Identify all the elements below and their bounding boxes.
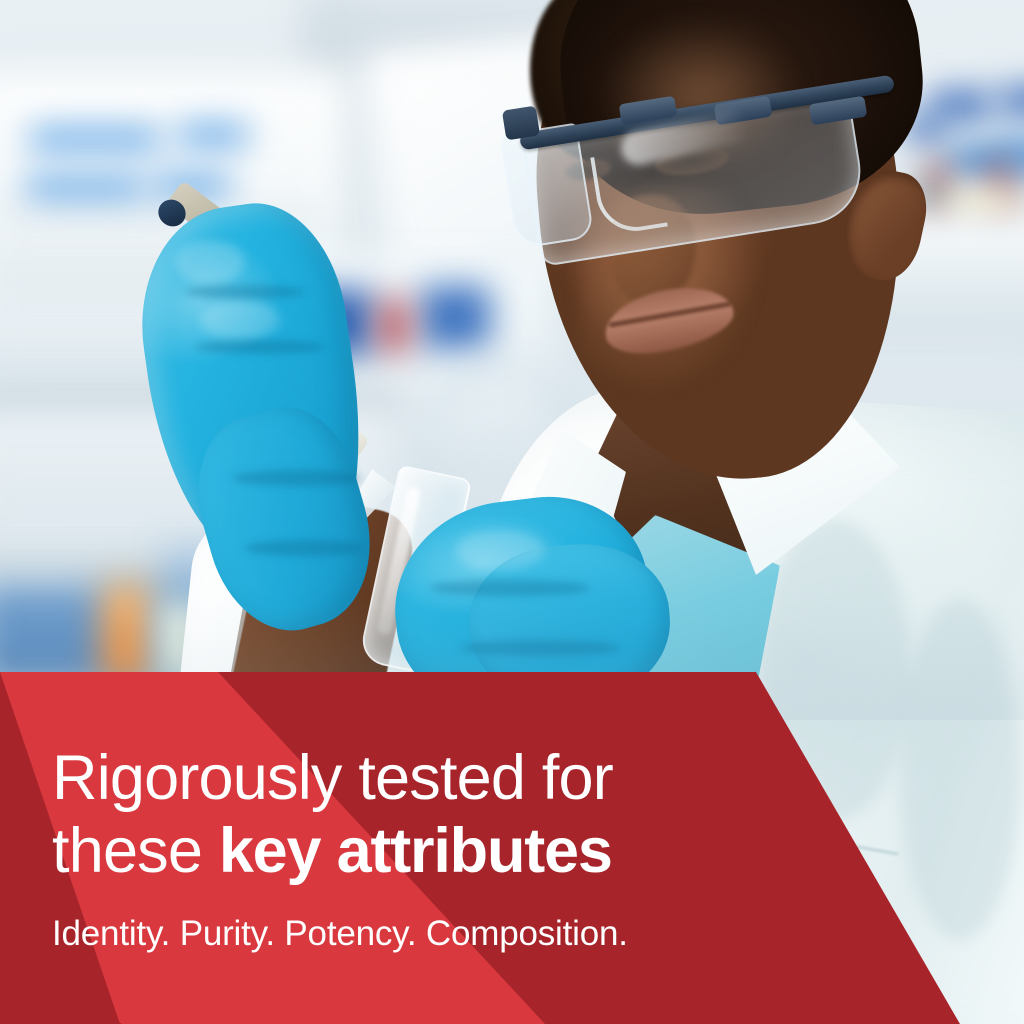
- glove-crease: [244, 540, 364, 556]
- banner-text-block: Rigorously tested for these key attribut…: [52, 742, 812, 954]
- lab-coat-fold: [900, 600, 1020, 940]
- background-label-blue: [26, 180, 144, 198]
- background-bottle-cap: [930, 92, 992, 118]
- glove-knuckle-highlight: [175, 240, 245, 284]
- glove-crease: [460, 640, 620, 656]
- subline-attributes: Identity. Purity. Potency. Composition.: [52, 914, 812, 954]
- glove-crease: [185, 285, 305, 299]
- headline-light-part: these: [52, 816, 219, 886]
- glove-knuckle-highlight: [200, 300, 280, 340]
- glove-crease: [232, 470, 362, 486]
- goggles-hinge: [502, 106, 540, 141]
- background-bottle-orange: [100, 580, 152, 685]
- background-label-blue: [30, 130, 160, 148]
- safety-goggles: [500, 60, 920, 280]
- background-label-blue: [178, 126, 248, 144]
- background-bottle-cap: [1000, 88, 1024, 114]
- glove-crease: [195, 340, 325, 354]
- promotional-poster: Rigorously tested for these key attribut…: [0, 0, 1024, 1024]
- glove-knuckle-highlight: [455, 530, 545, 570]
- headline-line-2: these key attributes: [52, 815, 812, 888]
- headline-line-1: Rigorously tested for: [52, 742, 812, 815]
- headline-bold-part: key attributes: [219, 816, 612, 886]
- background-reagent-blue: [420, 286, 490, 348]
- background-reagent-red: [380, 300, 408, 352]
- glove-crease: [430, 580, 590, 596]
